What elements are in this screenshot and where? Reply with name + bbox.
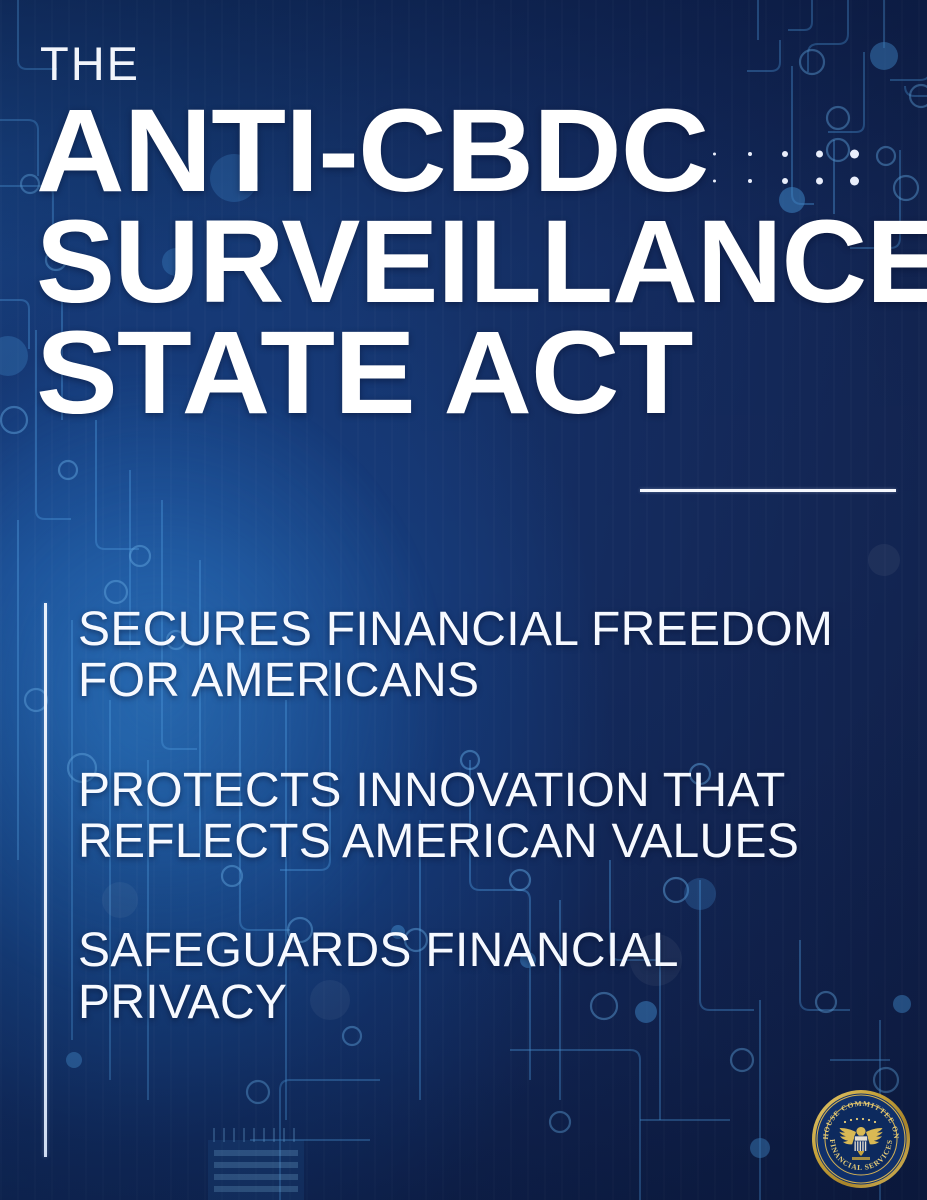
dot: [850, 149, 859, 158]
dot: [713, 152, 716, 155]
dot: [850, 176, 859, 185]
dot: [782, 151, 788, 157]
title-line-1: ANTI-CBDC: [36, 96, 927, 207]
dot: [748, 179, 752, 183]
poster-canvas: THE ANTI-CBDC SURVEILLANCE STATE ACT SEC…: [0, 0, 927, 1200]
dot: [713, 179, 716, 182]
bullet-item: SAFEGUARDS FINANCIAL PRIVACY: [78, 925, 898, 1028]
seal-date-banner: [852, 1157, 870, 1160]
page-kicker: THE: [40, 40, 140, 87]
bullet-list: SECURES FINANCIAL FREEDOM FOR AMERICANS …: [78, 604, 898, 1028]
title-underline-rule: [640, 489, 896, 492]
bullet-accent-bar: [44, 603, 47, 1157]
bullet-item: PROTECTS INNOVATION THAT REFLECTS AMERIC…: [78, 765, 898, 868]
dot: [816, 177, 823, 184]
dot: [782, 178, 788, 184]
dot: [816, 150, 823, 157]
title-line-3: STATE ACT: [36, 318, 927, 429]
seal-shield: [855, 1136, 868, 1151]
title-line-2: SURVEILLANCE: [36, 207, 920, 318]
dot: [748, 152, 752, 156]
page-title: ANTI-CBDC SURVEILLANCE STATE ACT: [36, 96, 916, 429]
house-financial-services-seal: HOUSE COMMITTEE ON FINANCIAL SERVICES: [811, 1089, 911, 1189]
bullet-item: SECURES FINANCIAL FREEDOM FOR AMERICANS: [78, 604, 898, 707]
